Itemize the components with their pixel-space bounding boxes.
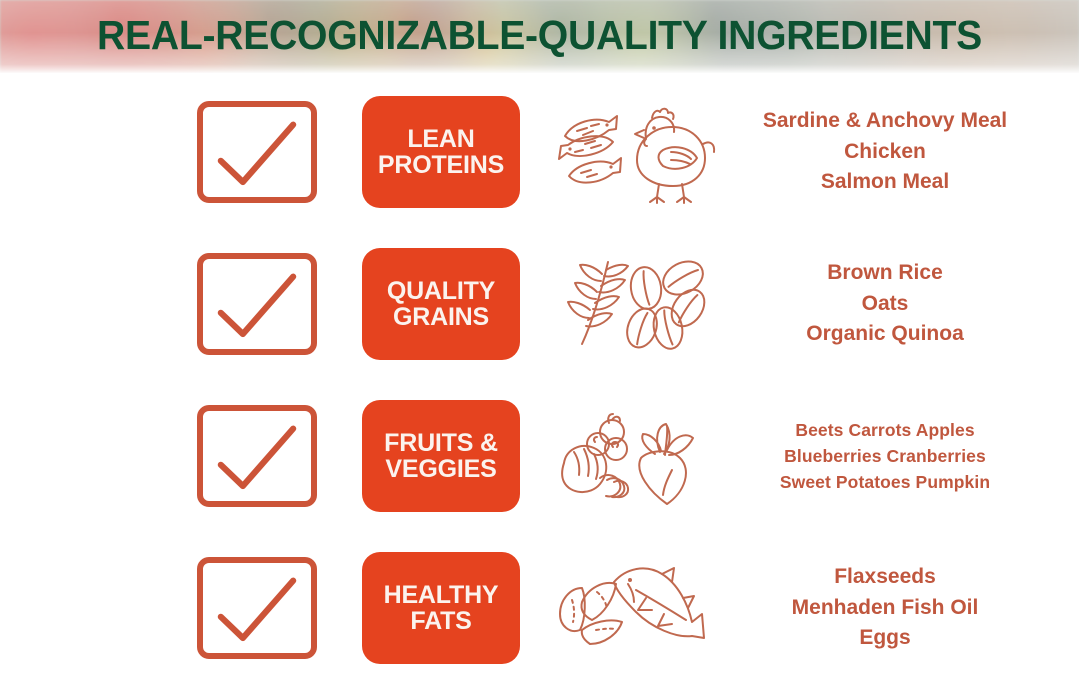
icon-quality-grains [548,245,720,363]
icon-fruits-veggies [548,397,720,515]
badge-line-2: VEGGIES [385,456,496,482]
badge-quality-grains: QUALITY GRAINS [362,248,520,360]
ingredient-item: Blueberries Cranberries [784,443,986,469]
ingredient-item: Menhaden Fish Oil [792,593,979,624]
ingredient-item: Organic Quinoa [806,319,964,350]
ingredient-list-quality-grains: Brown Rice Oats Organic Quinoa [700,241,1070,367]
ingredient-item: Sardine & Anchovy Meal [763,106,1007,137]
ingredient-row: FRUITS & VEGGIES [0,379,1079,531]
badge-body: QUALITY GRAINS [362,248,520,360]
checkbox-frame [197,405,317,507]
ingredient-item: Salmon Meal [821,167,949,198]
ingredients-infographic: REAL-RECOGNIZABLE-QUALITY INGREDIENTS LE… [0,0,1079,682]
checkbox-quality-grains[interactable] [197,253,317,355]
badge-body: LEAN PROTEINS [362,96,520,208]
icon-healthy-fats [548,549,720,667]
badge-line-2: PROTEINS [378,152,504,178]
badge-line-1: HEALTHY [384,582,499,608]
ingredient-row: QUALITY GRAINS [0,227,1079,379]
icon-lean-proteins [548,93,720,211]
ingredient-item: Sweet Potatoes Pumpkin [780,469,990,495]
checkmark-icon [203,563,311,653]
checkbox-frame [197,101,317,203]
checkbox-frame [197,557,317,659]
ingredient-item: Brown Rice [827,258,943,289]
badge-line-1: LEAN [407,126,474,152]
checkbox-lean-proteins[interactable] [197,101,317,203]
page-title: REAL-RECOGNIZABLE-QUALITY INGREDIENTS [24,0,1054,73]
checkmark-icon [203,107,311,197]
ingredient-list-fruits-veggies: Beets Carrots Apples Blueberries Cranber… [700,393,1070,519]
checkmark-icon [203,259,311,349]
badge-line-2: GRAINS [393,304,489,330]
ingredient-item: Eggs [859,623,910,654]
badge-body: HEALTHY FATS [362,552,520,664]
badge-lean-proteins: LEAN PROTEINS [362,96,520,208]
badge-line-1: QUALITY [387,278,495,304]
badge-fruits-veggies: FRUITS & VEGGIES [362,400,520,512]
checkbox-fruits-veggies[interactable] [197,405,317,507]
badge-body: FRUITS & VEGGIES [362,400,520,512]
badge-line-2: FATS [410,608,471,634]
ingredient-list-healthy-fats: Flaxseeds Menhaden Fish Oil Eggs [700,545,1070,671]
ingredient-rows: LEAN PROTEINS [0,73,1079,682]
header-band: REAL-RECOGNIZABLE-QUALITY INGREDIENTS [0,0,1079,73]
flaxseeds-and-fish-icon [552,552,716,664]
badge-healthy-fats: HEALTHY FATS [362,552,520,664]
ingredient-list-lean-proteins: Sardine & Anchovy Meal Chicken Salmon Me… [700,89,1070,215]
ingredient-item: Beets Carrots Apples [795,417,974,443]
checkbox-healthy-fats[interactable] [197,557,317,659]
wheat-sprig-and-grains-icon [554,248,714,360]
checkbox-frame [197,253,317,355]
checkmark-icon [203,411,311,501]
sweet-potato-blueberries-beet-icon [554,400,714,512]
ingredient-item: Flaxseeds [834,562,936,593]
ingredient-row: LEAN PROTEINS [0,75,1079,227]
badge-line-1: FRUITS & [384,430,498,456]
ingredient-item: Oats [862,289,909,320]
fish-and-chicken-icon [551,96,717,208]
ingredient-row: HEALTHY FATS [0,531,1079,682]
ingredient-item: Chicken [844,137,926,168]
